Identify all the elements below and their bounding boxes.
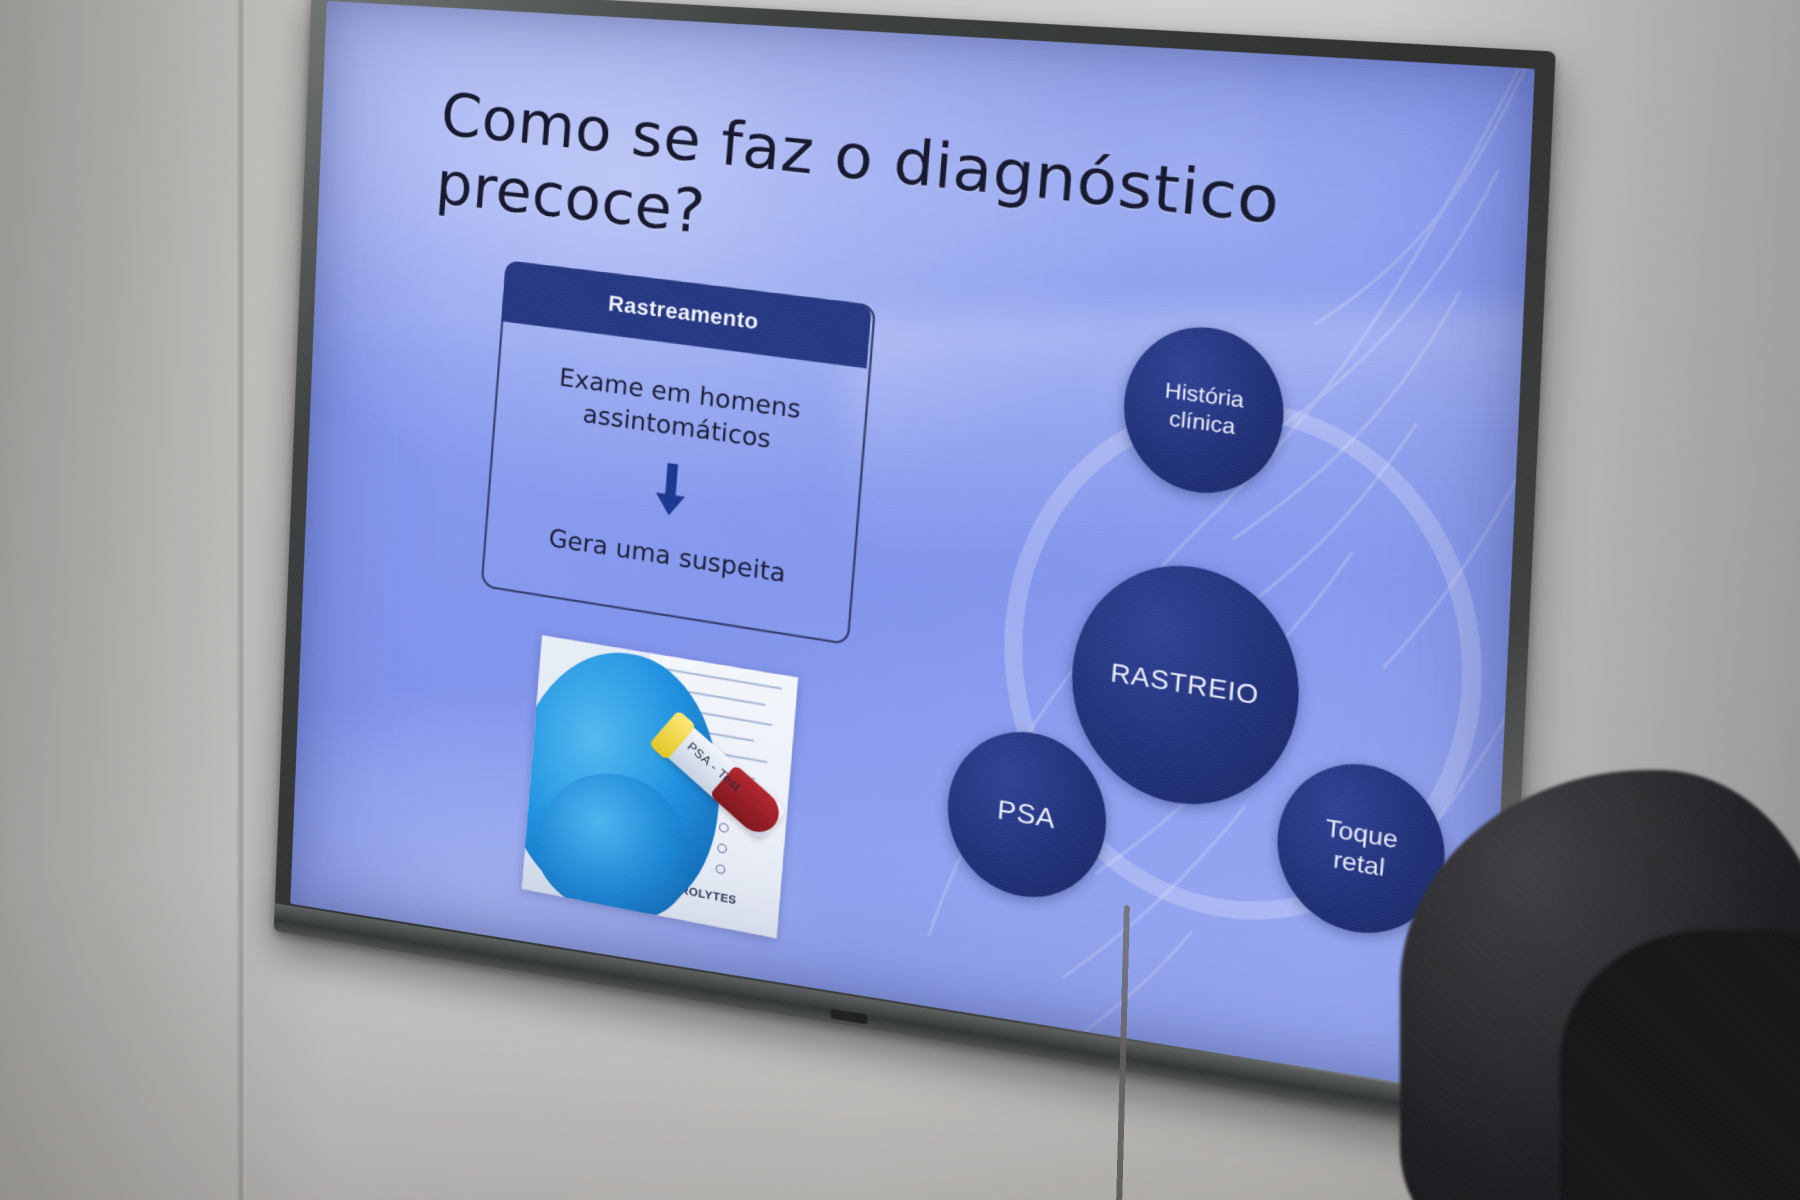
wall-corner-edge — [236, 0, 246, 1200]
slide-screen: Como se faz o diagnóstico precoce? Rastr… — [290, 1, 1535, 1097]
node-center-label: RASTREIO — [1109, 658, 1260, 712]
tv-panel: Como se faz o diagnóstico precoce? Rastr… — [290, 1, 1535, 1097]
room-scene: Como se faz o diagnóstico precoce? Rastr… — [0, 0, 1800, 1200]
card-header-label: Rastreamento — [607, 292, 759, 336]
node-psa-label: PSA — [996, 794, 1056, 835]
blood-test-photo: TUMOR ELECTROLYTES PSA - Test — [522, 635, 798, 938]
card-text-line-3: Gera uma suspeita — [548, 524, 787, 589]
rastreamento-card: Rastreamento Exame em homens assintomáti… — [481, 260, 877, 645]
card-body: Exame em homens assintomáticos Gera uma … — [483, 326, 869, 643]
arrow-down-icon — [651, 461, 691, 525]
